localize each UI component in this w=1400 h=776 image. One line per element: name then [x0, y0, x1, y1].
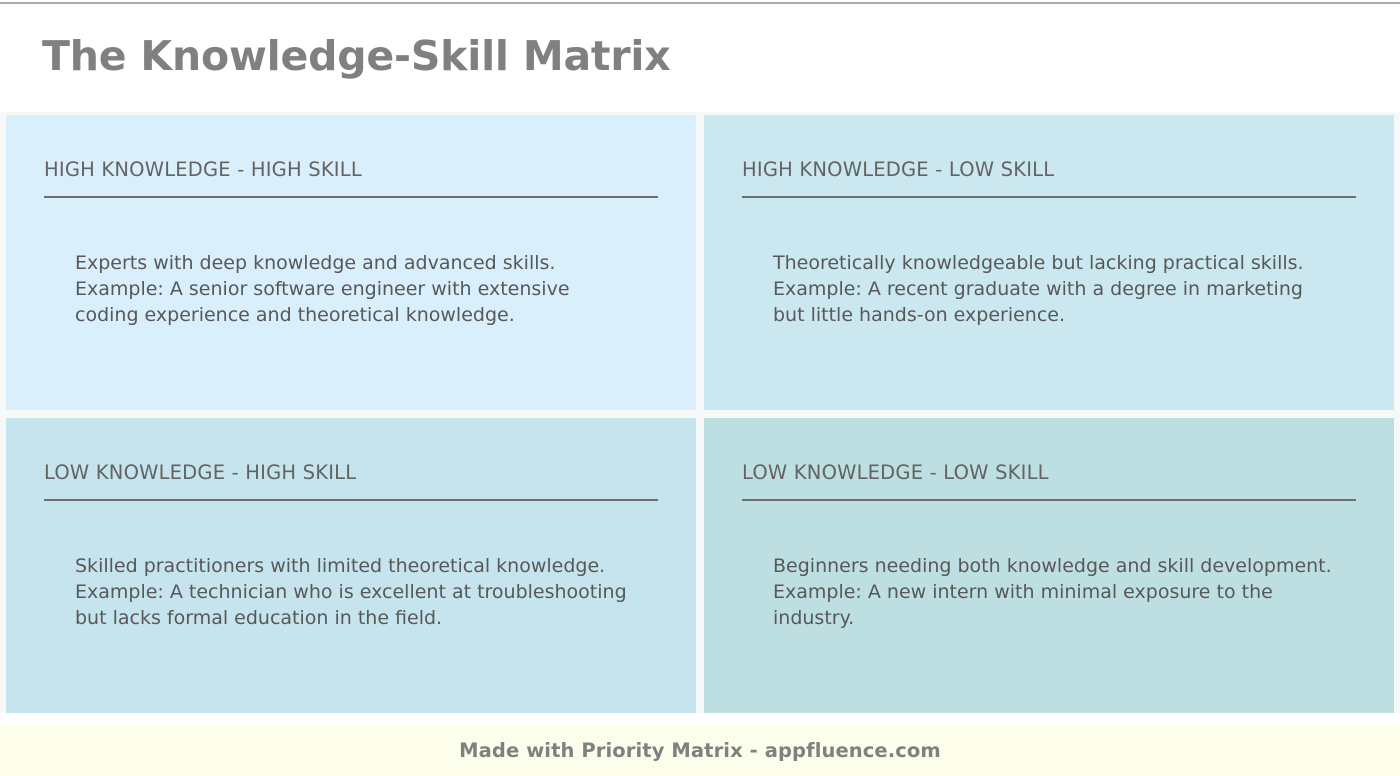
- quadrant-low-knowledge-high-skill[interactable]: LOW KNOWLEDGE - HIGH SKILL Skilled pract…: [6, 418, 696, 713]
- quadrant-body-low-knowledge-high-skill: Skilled practitioners with limited theor…: [44, 501, 635, 631]
- footer-attribution[interactable]: Made with Priority Matrix - appfluence.c…: [459, 739, 941, 762]
- matrix-grid: HIGH KNOWLEDGE - HIGH SKILL Experts with…: [0, 112, 1400, 713]
- quadrant-body-high-knowledge-high-skill: Experts with deep knowledge and advanced…: [44, 198, 635, 328]
- footer-spacer: [0, 713, 1400, 725]
- quadrant-low-knowledge-low-skill[interactable]: LOW KNOWLEDGE - LOW SKILL Beginners need…: [704, 418, 1394, 713]
- title-bar: The Knowledge-Skill Matrix: [0, 0, 1400, 112]
- knowledge-skill-matrix-page: The Knowledge-Skill Matrix HIGH KNOWLEDG…: [0, 0, 1400, 776]
- quadrant-title-low-knowledge-high-skill: LOW KNOWLEDGE - HIGH SKILL: [44, 462, 658, 501]
- page-title: The Knowledge-Skill Matrix: [0, 36, 670, 77]
- quadrant-high-knowledge-low-skill[interactable]: HIGH KNOWLEDGE - LOW SKILL Theoretically…: [704, 115, 1394, 410]
- quadrant-high-knowledge-high-skill[interactable]: HIGH KNOWLEDGE - HIGH SKILL Experts with…: [6, 115, 696, 410]
- footer-bar: Made with Priority Matrix - appfluence.c…: [0, 725, 1400, 776]
- top-divider: [0, 2, 1400, 4]
- quadrant-body-low-knowledge-low-skill: Beginners needing both knowledge and ski…: [742, 501, 1333, 631]
- quadrant-title-high-knowledge-high-skill: HIGH KNOWLEDGE - HIGH SKILL: [44, 159, 658, 198]
- quadrant-title-low-knowledge-low-skill: LOW KNOWLEDGE - LOW SKILL: [742, 462, 1356, 501]
- quadrant-title-high-knowledge-low-skill: HIGH KNOWLEDGE - LOW SKILL: [742, 159, 1356, 198]
- quadrant-body-high-knowledge-low-skill: Theoretically knowledgeable but lacking …: [742, 198, 1333, 328]
